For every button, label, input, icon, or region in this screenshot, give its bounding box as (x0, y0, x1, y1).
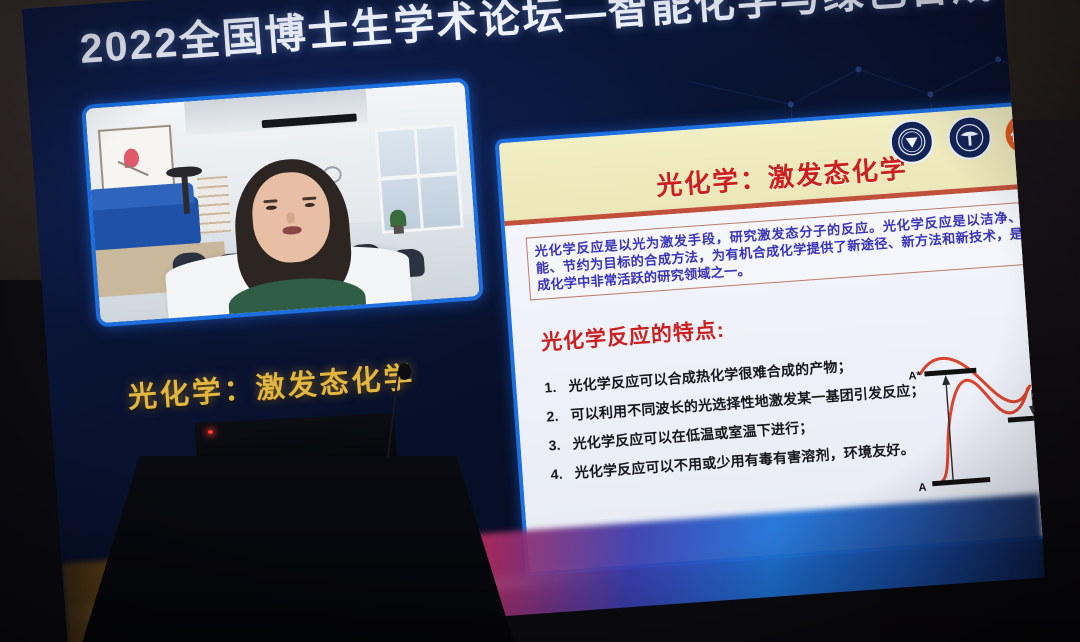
list-item-number: 2. (546, 401, 568, 431)
eyebrow (302, 196, 316, 201)
ladder-shelf (197, 176, 231, 234)
potted-plant-icon (390, 209, 406, 227)
eye (304, 202, 315, 207)
energy-level-a (932, 477, 990, 486)
conference-hall-scene: 2022全国博士生学术论坛—智能化学与绿色合成 (0, 0, 1080, 642)
excited-state-curve (919, 352, 1030, 408)
label-a: A (918, 482, 927, 495)
remote-speaker-video-feed[interactable] (81, 77, 484, 327)
potential-energy-diagram: A* A B (906, 331, 1045, 502)
list-item-number: 1. (543, 372, 565, 402)
list-item-number: 4. (550, 459, 572, 489)
ground-state-curve (933, 376, 1034, 483)
energy-level-a-star (924, 368, 976, 377)
list-item-number: 3. (548, 430, 570, 460)
speaker-portrait (230, 155, 355, 318)
mouth (283, 226, 302, 235)
microphone-head-icon (398, 363, 411, 380)
university-emblem-2-icon (946, 114, 993, 161)
eyebrow (264, 199, 278, 204)
window (374, 123, 463, 233)
video-background (85, 82, 479, 324)
nose (286, 212, 294, 223)
eye (266, 205, 277, 210)
excitation-arrow-head (942, 375, 951, 386)
podium-led-indicator-icon (208, 430, 213, 434)
university-emblem-1-icon (888, 118, 935, 165)
podium (78, 456, 518, 642)
label-a-star: A* (908, 370, 922, 383)
